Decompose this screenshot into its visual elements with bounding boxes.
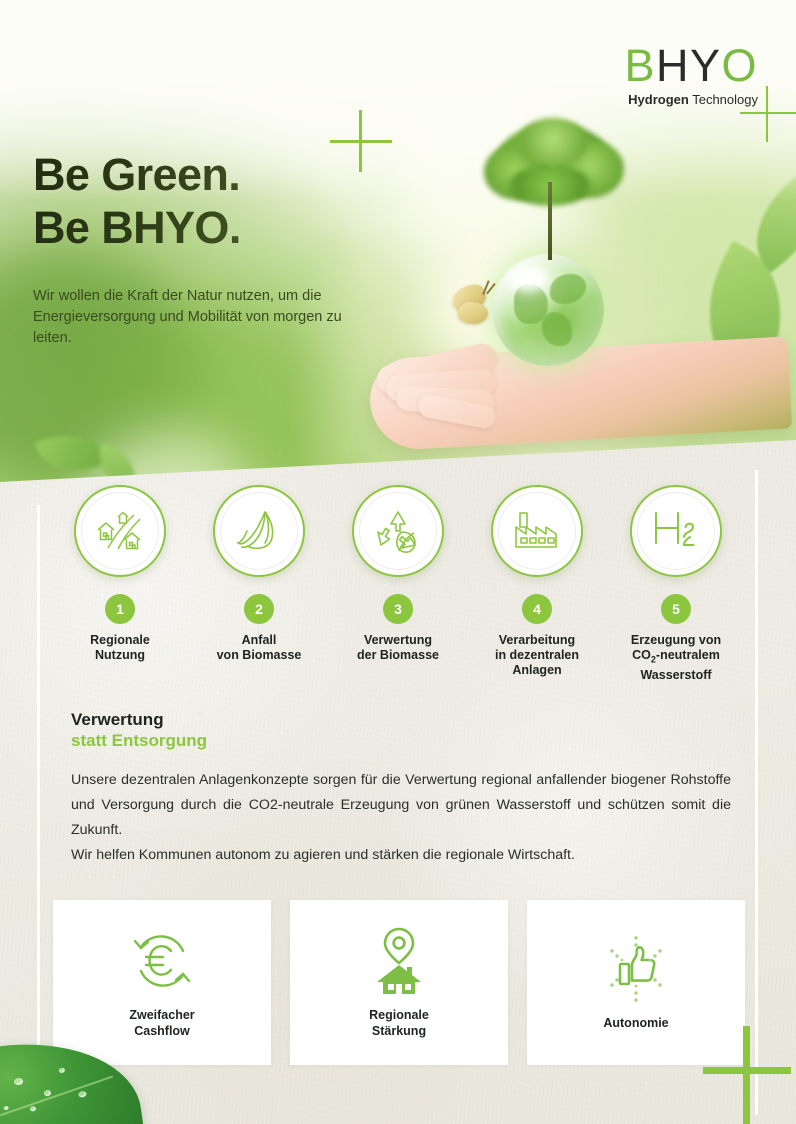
butterfly-icon: [452, 284, 508, 330]
step-label: Verwertung der Biomasse: [328, 633, 468, 663]
thumbs-up-icon: [598, 933, 674, 1005]
page-title: Be Green. Be BHYO.: [33, 148, 378, 254]
water-droplet: [3, 1106, 9, 1111]
houses-landscape-icon: [94, 510, 146, 552]
section-body: Unsere dezentralen Anlagenkonzepte sorge…: [71, 768, 731, 868]
water-droplet: [78, 1091, 87, 1098]
body-paragraph-2: Wir helfen Kommunen autonom zu agieren u…: [71, 843, 731, 868]
logo-wordmark: BHYO: [624, 42, 758, 89]
step-circle-inner: [220, 492, 298, 570]
water-droplet: [59, 1067, 66, 1073]
step-circle-inner: [81, 492, 159, 570]
step-label: Erzeugung von CO2-neutralem Wasserstoff: [606, 633, 746, 683]
step-circle: [74, 485, 166, 577]
step-number-badge: 2: [244, 594, 274, 624]
card-icon-wrap: [129, 927, 195, 995]
logo-tagline: Hydrogen Technology: [624, 92, 758, 108]
step-circle: [630, 485, 722, 577]
benefit-card-regional[interactable]: Regionale Stärkung: [290, 900, 508, 1065]
card-icon-wrap: [369, 927, 429, 995]
tree-canopy: [518, 118, 588, 166]
process-step-2[interactable]: 2 Anfall von Biomasse: [189, 485, 329, 663]
process-step-1[interactable]: 1 Regionale Nutzung: [50, 485, 190, 663]
section-title: Verwertung: [71, 710, 731, 730]
recycling-leaf-icon: [374, 508, 422, 554]
text-section: Verwertung statt Entsorgung Unsere dezen…: [71, 710, 731, 868]
tree-icon: [478, 118, 628, 264]
process-step-5[interactable]: 5 Erzeugung von CO2-neutralem Wasserstof…: [606, 485, 746, 683]
process-step-3[interactable]: 3 Verwertung der Biomasse: [328, 485, 468, 663]
banana-peel-icon: [235, 509, 283, 553]
card-label: Zweifacher Cashflow: [129, 1007, 194, 1039]
poster-page: Be Green. Be BHYO. Wir wollen die Kraft …: [0, 0, 796, 1124]
step-circle-inner: [637, 492, 715, 570]
step-number-badge: 5: [661, 594, 691, 624]
step-circle-inner: [359, 492, 437, 570]
water-droplet: [30, 1106, 37, 1112]
tree-trunk: [548, 182, 552, 260]
factory-icon: [512, 509, 562, 553]
logo-letter-b: B: [624, 40, 656, 91]
logo-tagline-bold: Hydrogen: [628, 92, 689, 107]
step-number-badge: 4: [522, 594, 552, 624]
step-circle: [491, 485, 583, 577]
hero-subtext: Wir wollen die Kraft der Natur nutzen, u…: [33, 286, 378, 349]
step-number-badge: 3: [383, 594, 413, 624]
logo-letter-y: Y: [690, 40, 722, 91]
benefit-card-autonomy[interactable]: Autonomie: [527, 900, 745, 1065]
h2-icon: [648, 507, 704, 555]
water-droplet: [43, 1090, 51, 1097]
map-pin-house-icon: [369, 927, 429, 995]
hero-copy: Be Green. Be BHYO. Wir wollen die Kraft …: [33, 148, 378, 349]
butterfly-wing: [456, 300, 489, 327]
globe-highlight: [508, 266, 548, 292]
step-label: Anfall von Biomasse: [189, 633, 329, 663]
step-circle: [352, 485, 444, 577]
body-paragraph-1: Unsere dezentralen Anlagenkonzepte sorge…: [71, 768, 731, 843]
card-label: Regionale Stärkung: [369, 1007, 429, 1039]
globe-landmass: [542, 312, 572, 346]
step-circle: [213, 485, 305, 577]
step-label: Verarbeitung in dezentralen Anlagen: [467, 633, 607, 678]
section-subtitle: statt Entsorgung: [71, 730, 731, 751]
step-number-badge: 1: [105, 594, 135, 624]
water-droplet: [14, 1077, 24, 1085]
step-label: Regionale Nutzung: [50, 633, 190, 663]
logo-letter-h: H: [656, 40, 690, 91]
euro-cycle-icon: [129, 929, 195, 993]
benefit-cards: Zweifacher Cashflow Regionale Stärkung: [53, 900, 745, 1065]
card-icon-wrap: [598, 935, 674, 1003]
hero-illustration: [360, 236, 796, 436]
logo-tagline-light: Technology: [689, 92, 758, 107]
process-step-4[interactable]: 4 Verarbeitung in dezentralen Anlagen: [467, 485, 607, 678]
brand-logo[interactable]: BHYO Hydrogen Technology: [624, 42, 758, 108]
card-label: Autonomie: [603, 1015, 668, 1031]
logo-letter-o: O: [721, 40, 758, 91]
process-flow: 1 Regionale Nutzung 2 Anfall von Biomass…: [0, 485, 796, 700]
glass-globe-icon: [492, 254, 604, 366]
globe-landmass: [550, 274, 586, 304]
benefit-card-cashflow[interactable]: Zweifacher Cashflow: [53, 900, 271, 1065]
step-circle-inner: [498, 492, 576, 570]
